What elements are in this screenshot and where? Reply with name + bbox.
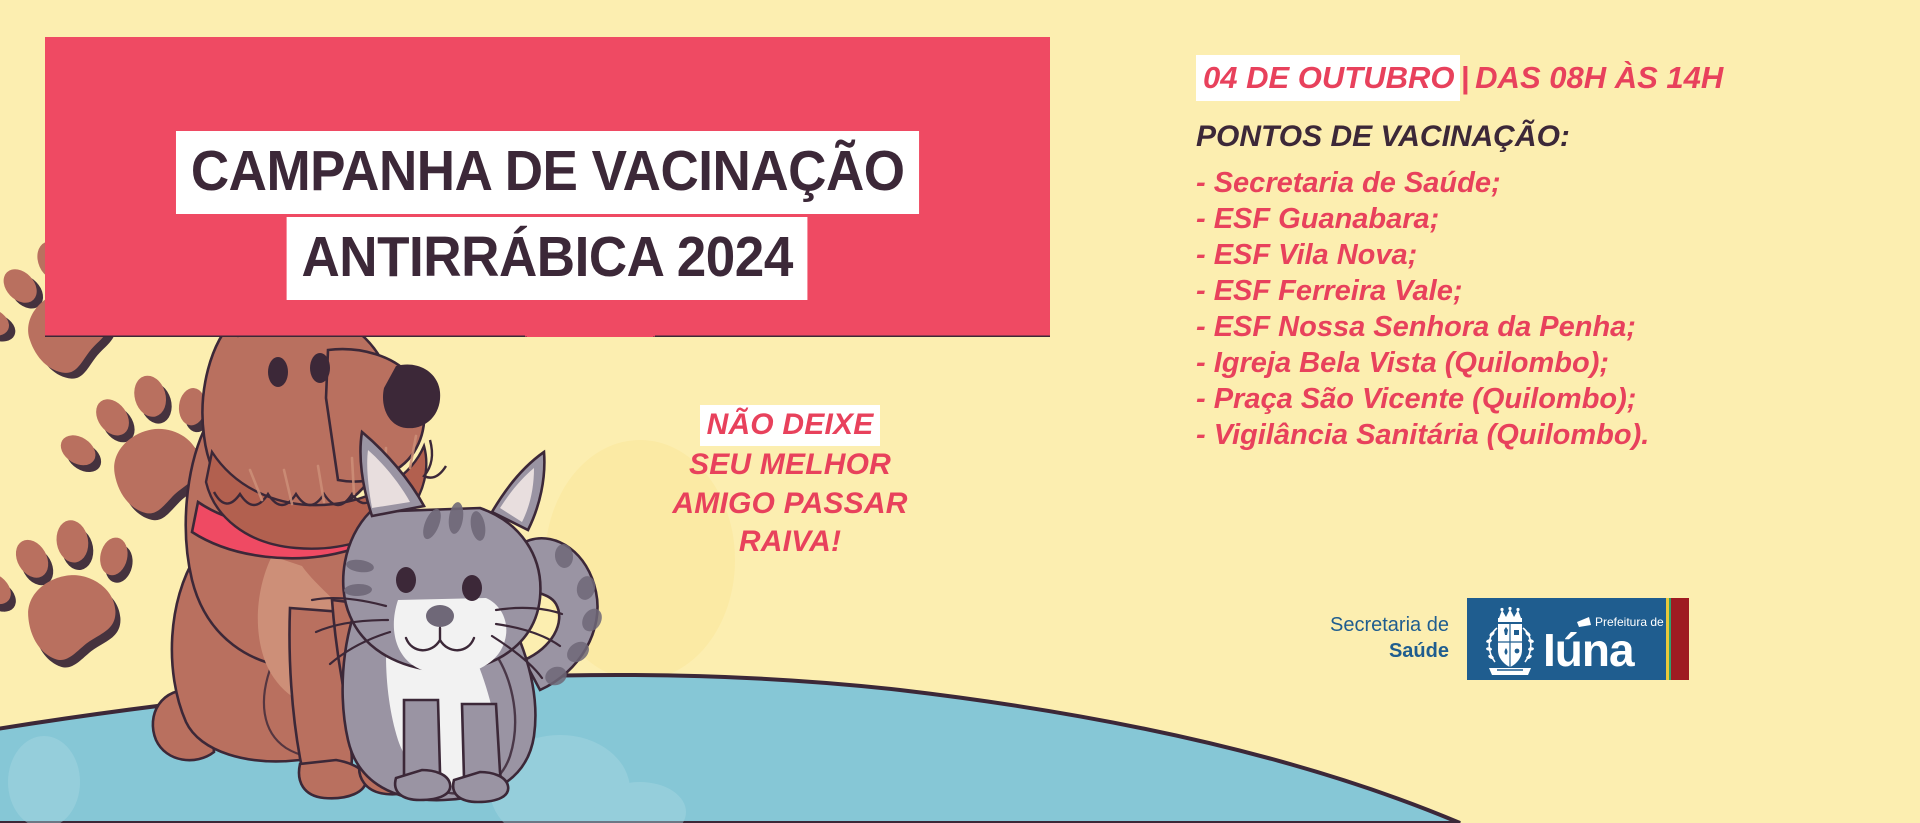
vaccination-campaign-poster: CAMPANHA DE VACINAÇÃO ANTIRRÁBICA 2024 N… (0, 0, 1920, 823)
secretaria-line-2: Saúde (1330, 639, 1449, 665)
logo-area: Secretaria de Saúde (1330, 598, 1689, 680)
list-item: - Praça São Vicente (Quilombo); (1196, 382, 1896, 418)
secretaria-line-1: Secretaria de (1330, 613, 1449, 639)
headline-line-2: ANTIRRÁBICA 2024 (287, 217, 808, 300)
schedule-date: 04 DE OUTUBRO (1196, 55, 1460, 101)
slogan-line-4: RAIVA! (620, 523, 960, 561)
slogan-line-2: SEU MELHOR (620, 446, 960, 484)
slogan-line-3: AMIGO PASSAR (620, 485, 960, 523)
list-item: - Igreja Bela Vista (Quilombo); (1196, 346, 1896, 382)
list-item: - ESF Ferreira Vale; (1196, 274, 1896, 310)
list-item: - ESF Guanabara; (1196, 202, 1896, 238)
slogan-line-1: NÃO DEIXE (620, 405, 960, 446)
headline-line-1: CAMPANHA DE VACINAÇÃO (176, 131, 919, 214)
information-column: 04 DE OUTUBRO|DAS 08H ÀS 14H PONTOS DE V… (1196, 55, 1896, 454)
cat-eye-left (396, 567, 416, 593)
campaign-slogan: NÃO DEIXE SEU MELHOR AMIGO PASSAR RAIVA! (620, 405, 960, 562)
list-item: - ESF Vila Nova; (1196, 238, 1896, 274)
logo-green-stripe (1669, 598, 1671, 680)
vaccination-points-list: - Secretaria de Saúde; - ESF Guanabara; … (1196, 166, 1896, 454)
dog-eye-left (268, 357, 288, 387)
prefeitura-city-text: Iúna (1543, 624, 1635, 676)
logo-red-panel (1671, 598, 1689, 680)
cat-eye-right (462, 575, 482, 601)
cat-nose (426, 605, 454, 627)
headline-speech-bubble: CAMPANHA DE VACINAÇÃO ANTIRRÁBICA 2024 (45, 37, 1050, 337)
list-item: - Vigilância Sanitária (Quilombo). (1196, 418, 1896, 454)
list-item: - Secretaria de Saúde; (1196, 166, 1896, 202)
secretaria-saude-logo: Secretaria de Saúde (1330, 613, 1449, 664)
vaccination-points-title: PONTOS DE VACINAÇÃO: (1196, 122, 1896, 152)
prefeitura-iuna-logo: Prefeitura de Iúna (1467, 598, 1689, 680)
logo-yellow-stripe (1666, 598, 1669, 680)
schedule-banner: 04 DE OUTUBRO|DAS 08H ÀS 14H (1196, 55, 1896, 101)
dog-eye-right (310, 353, 330, 383)
schedule-time: DAS 08H ÀS 14H (1469, 55, 1723, 101)
list-item: - ESF Nossa Senhora da Penha; (1196, 310, 1896, 346)
schedule-separator: | (1460, 55, 1469, 101)
